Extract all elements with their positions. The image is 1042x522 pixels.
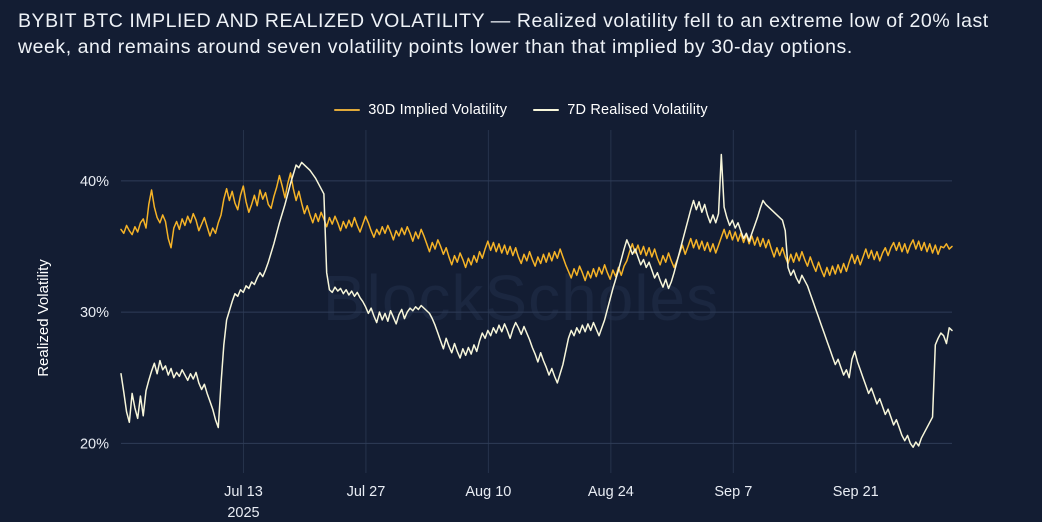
x-tick-label: Sep 7 [714,484,752,500]
watermark-text: BlockScholes [323,262,719,334]
plot-area: BlockScholes 20%30%40% Jul 132025Jul 27A… [0,0,1042,522]
horizontal-gridlines [121,181,952,444]
chart-svg: BlockScholes 20%30%40% Jul 132025Jul 27A… [0,0,1042,522]
y-tick-label: 20% [80,436,109,452]
x-tick-label: Jul 27 [347,484,386,500]
y-axis-label: Realized Volatility [35,259,52,377]
y-tick-label: 30% [80,305,109,321]
y-axis-ticks: 20%30%40% [80,174,109,453]
x-tick-year-label: 2025 [227,505,259,521]
x-axis-ticks: Jul 132025Jul 27Aug 10Aug 24Sep 7Sep 21 [224,484,879,521]
x-tick-label: Jul 13 [224,484,263,500]
x-tick-label: Sep 21 [833,484,879,500]
watermark: BlockScholes [323,262,719,334]
y-tick-label: 40% [80,174,109,190]
chart-page: BYBIT BTC IMPLIED AND REALIZED VOLATILIT… [0,0,1042,522]
x-tick-label: Aug 24 [588,484,634,500]
x-tick-label: Aug 10 [465,484,511,500]
